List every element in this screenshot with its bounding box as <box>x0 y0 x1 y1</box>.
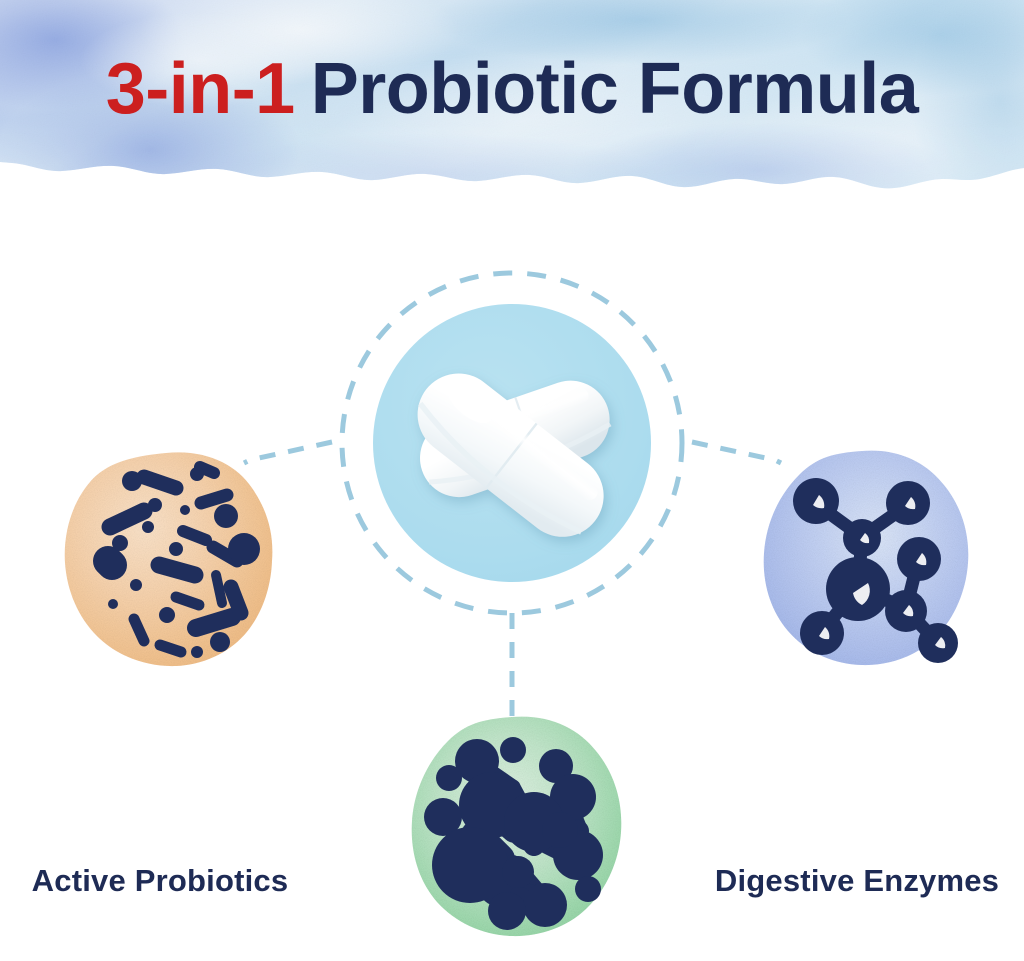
diagram-graphic <box>0 205 1024 961</box>
infographic-canvas: 3-in-1Probiotic Formula <box>0 0 1024 961</box>
node-label-probiotics: Active Probiotics <box>0 863 320 899</box>
title-main: Probiotic Formula <box>311 49 919 129</box>
header-watercolor-band: 3-in-1Probiotic Formula <box>0 0 1024 205</box>
connector-line-right <box>692 442 781 463</box>
node-enzymes[interactable] <box>764 451 969 665</box>
title-accent: 3-in-1 <box>106 49 295 129</box>
node-prebiotics[interactable] <box>412 717 622 936</box>
node-probiotics[interactable] <box>65 452 273 666</box>
connector-line-left <box>244 442 332 463</box>
page-title: 3-in-1Probiotic Formula <box>0 48 1024 130</box>
node-label-enzymes: Digestive Enzymes <box>690 863 1024 899</box>
ingredients-diagram: Active Probiotics Digestive Enzymes Solu… <box>0 205 1024 961</box>
